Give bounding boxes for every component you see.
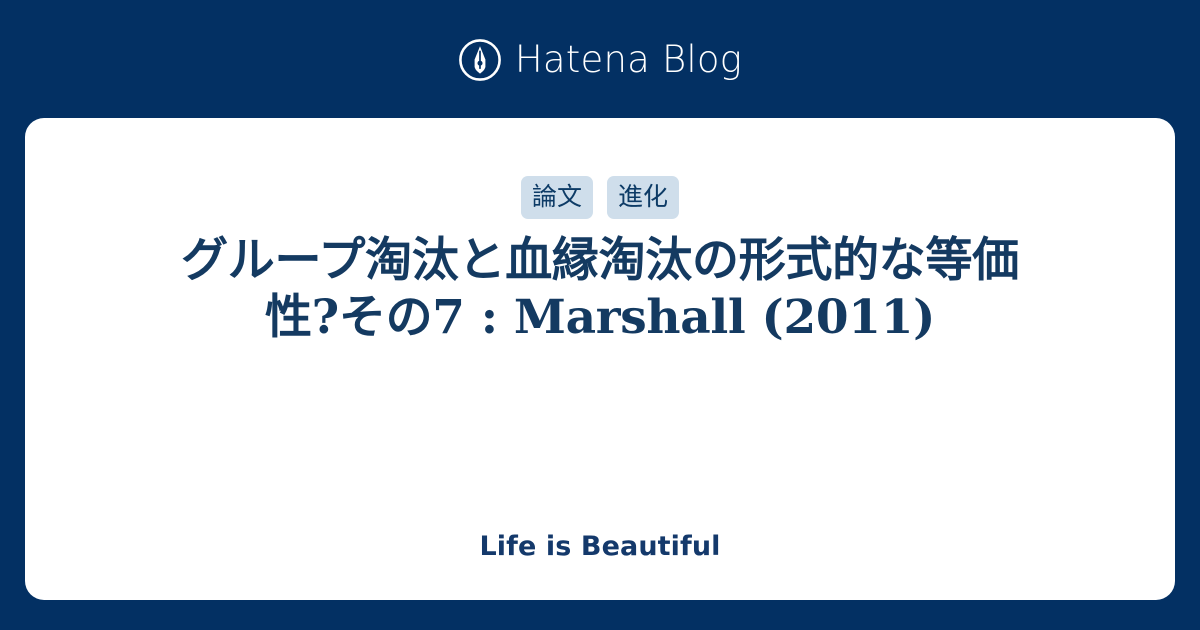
hatena-blog-header: Hatena Blog (0, 0, 1200, 118)
ogp-card-root: Hatena Blog 論文 進化 グループ淘汰と血縁淘汰の形式的な等価性?その… (0, 0, 1200, 630)
blog-name[interactable]: Life is Beautiful (479, 505, 720, 560)
hatena-pen-nib-icon (458, 38, 502, 82)
tag-list: 論文 進化 (521, 176, 679, 219)
hatena-blog-brand-name: Hatena Blog (515, 41, 742, 78)
tag-item[interactable]: 進化 (607, 176, 679, 219)
entry-card: 論文 進化 グループ淘汰と血縁淘汰の形式的な等価性?その7 : Marshall… (25, 118, 1175, 600)
entry-title[interactable]: グループ淘汰と血縁淘汰の形式的な等価性?その7 : Marshall (2011… (150, 233, 1050, 347)
tag-item[interactable]: 論文 (521, 176, 593, 219)
